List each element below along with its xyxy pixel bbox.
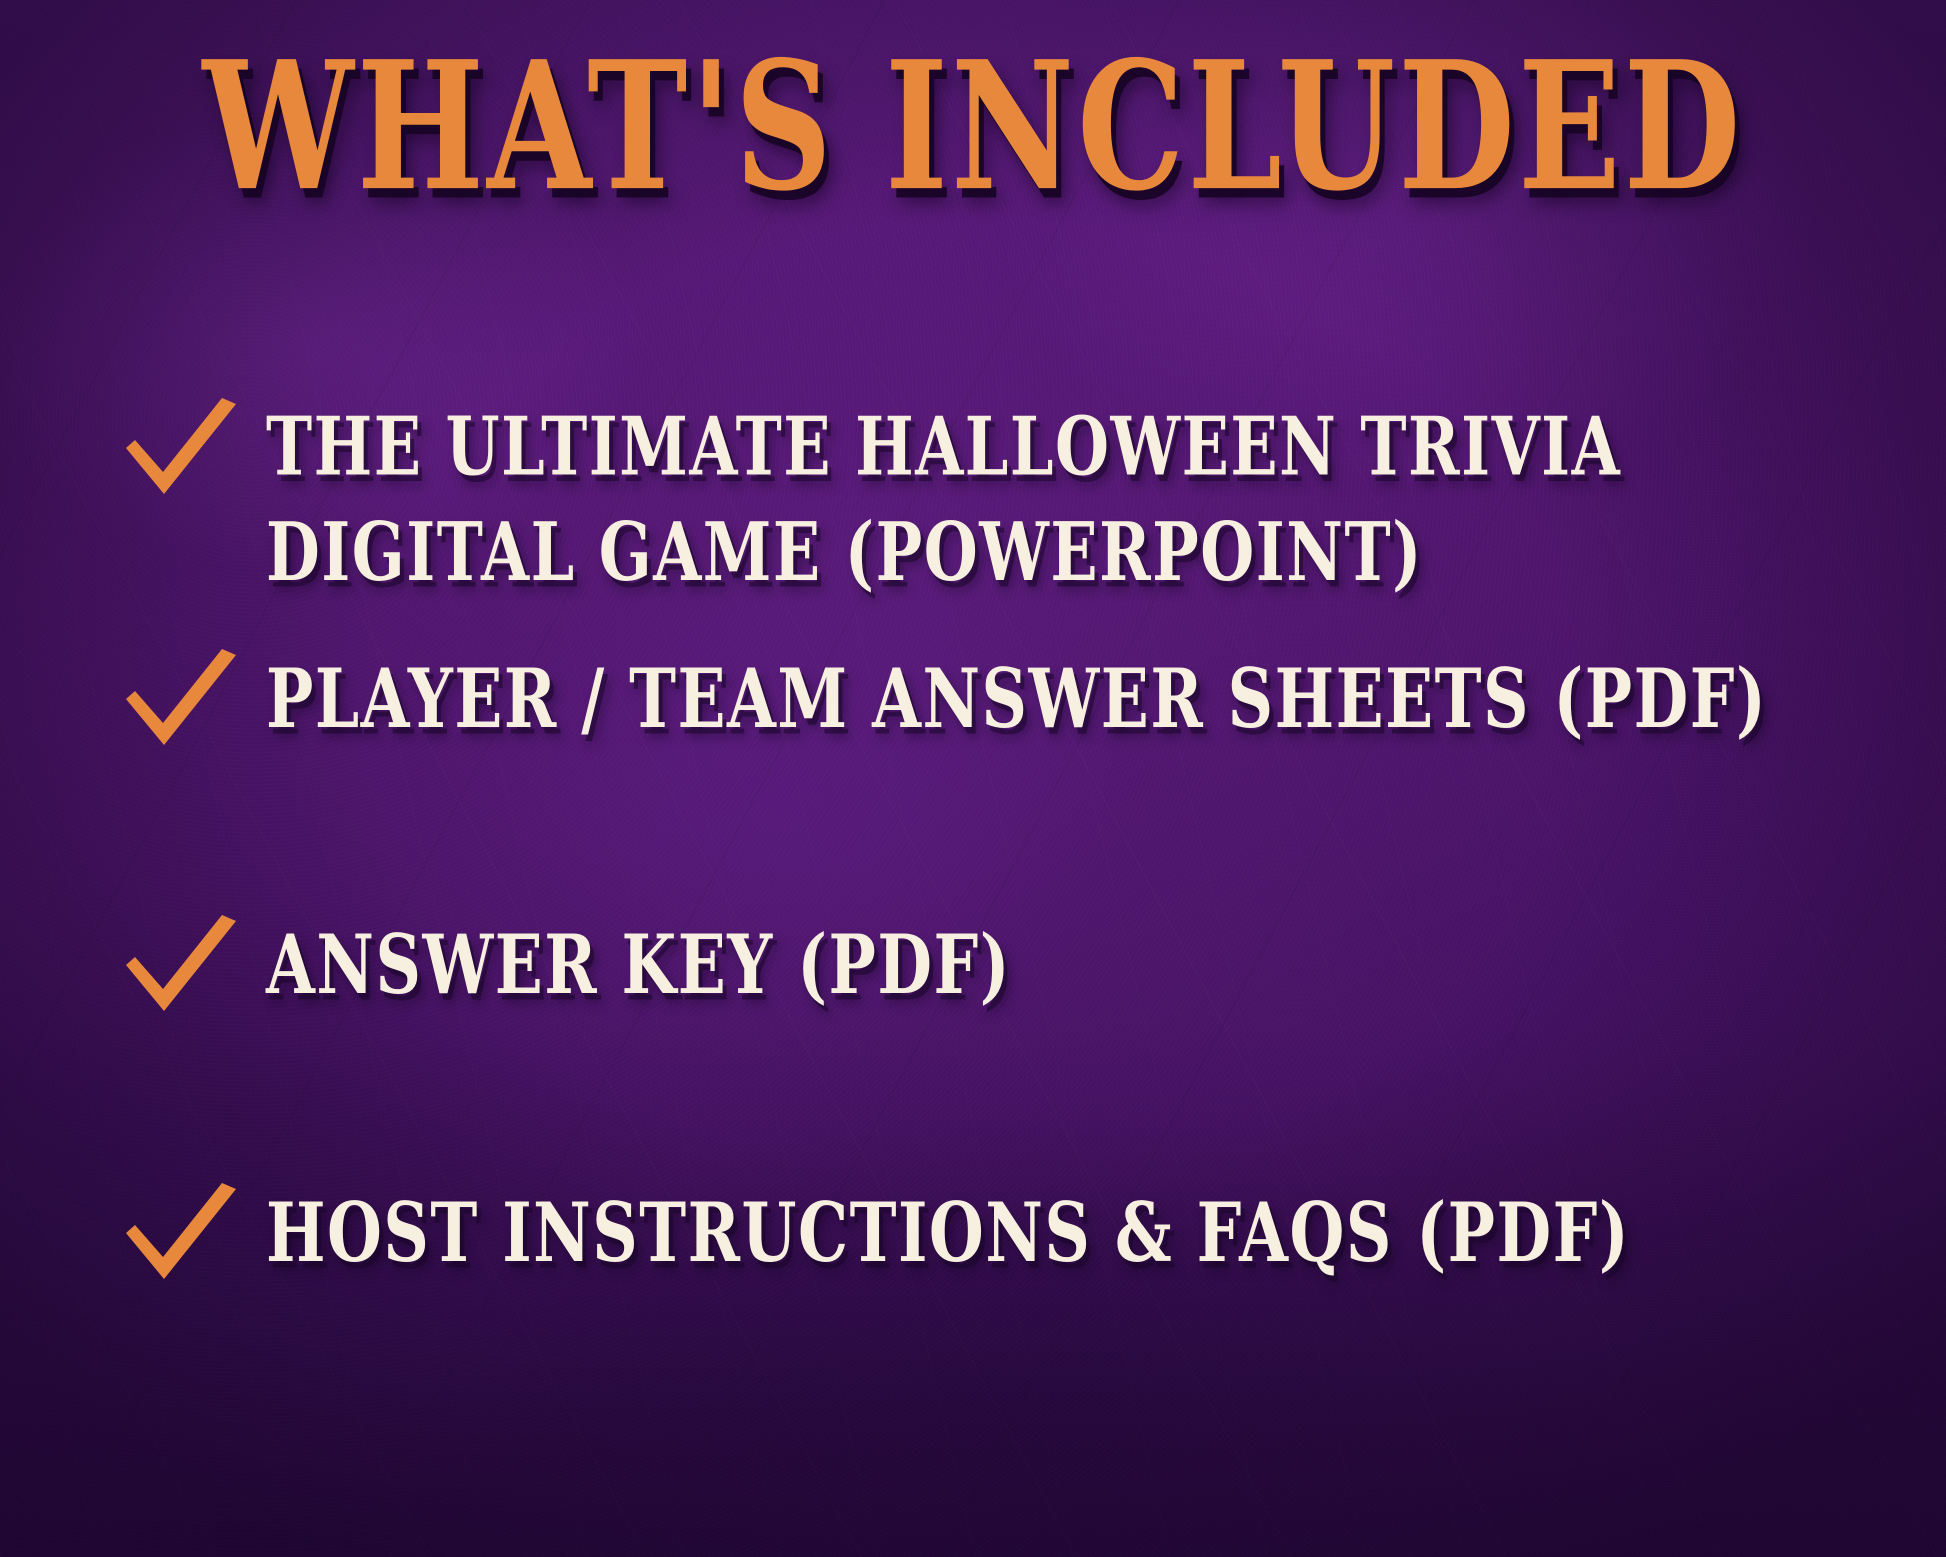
list-item-label: ANSWER KEY (PDF)	[266, 907, 1011, 1019]
included-checklist: THE ULTIMATE HALLOWEEN TRIVIA DIGITAL GA…	[118, 390, 1838, 1293]
slide-canvas: WHAT'S INCLUDED THE ULTIMATE HALLOWEEN T…	[0, 0, 1946, 1557]
orange-checkmark-icon	[118, 915, 244, 1025]
list-item: ANSWER KEY (PDF)	[118, 907, 1838, 1025]
list-item-line-1: THE ULTIMATE HALLOWEEN TRIVIA	[266, 395, 1621, 500]
list-item: THE ULTIMATE HALLOWEEN TRIVIA DIGITAL GA…	[118, 390, 1838, 555]
list-item-line-2: DIGITAL GAME (POWERPOINT)	[266, 500, 1621, 605]
orange-checkmark-icon	[118, 398, 244, 508]
list-item-label: PLAYER / TEAM ANSWER SHEETS (PDF)	[266, 641, 1767, 753]
list-item-line-1: PLAYER / TEAM ANSWER SHEETS (PDF)	[266, 646, 1767, 752]
page-title: WHAT'S INCLUDED	[0, 34, 1946, 221]
list-item-line-1: ANSWER KEY (PDF)	[266, 912, 1011, 1018]
orange-checkmark-icon	[118, 1183, 244, 1293]
list-item-line-1: HOST INSTRUCTIONS & FAQS (PDF)	[266, 1180, 1630, 1286]
list-item-label: HOST INSTRUCTIONS & FAQS (PDF)	[266, 1175, 1630, 1287]
list-item: PLAYER / TEAM ANSWER SHEETS (PDF)	[118, 641, 1838, 759]
list-item: HOST INSTRUCTIONS & FAQS (PDF)	[118, 1175, 1838, 1293]
list-item-label: THE ULTIMATE HALLOWEEN TRIVIA DIGITAL GA…	[266, 390, 1621, 605]
orange-checkmark-icon	[118, 649, 244, 759]
